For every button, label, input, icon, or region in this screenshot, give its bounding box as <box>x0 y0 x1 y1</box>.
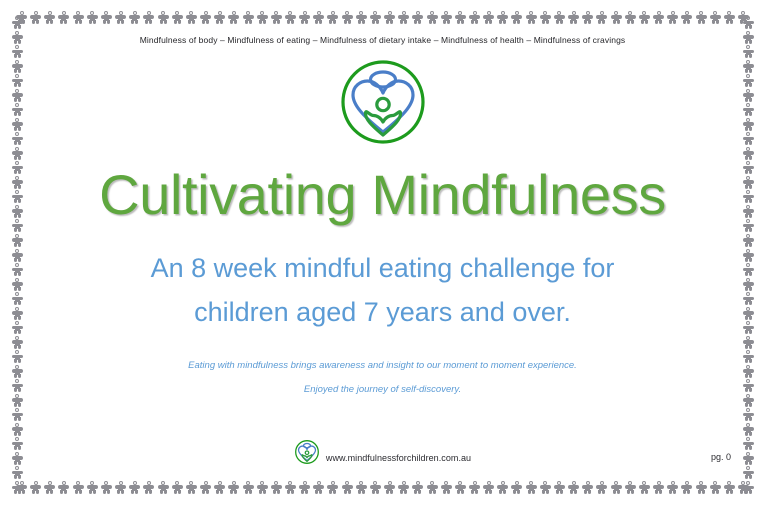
paper-doll-figure-icon <box>12 307 23 320</box>
paper-doll-figure-icon <box>743 307 754 320</box>
paper-doll-figure-icon <box>12 176 23 189</box>
paper-doll-figure-icon <box>12 292 23 305</box>
paper-doll-figure-icon <box>16 11 27 24</box>
decorative-border-left <box>9 16 25 494</box>
footer: www.mindfulnessforchildren.com.au pg. 0 <box>28 436 737 468</box>
paper-doll-figure-icon <box>743 60 754 73</box>
paper-doll-figure-icon <box>12 89 23 102</box>
paper-doll-figure-icon <box>743 118 754 131</box>
paper-doll-figure-icon <box>12 321 23 334</box>
tagline-line-1: Eating with mindfulness brings awareness… <box>28 354 737 377</box>
paper-doll-figure-icon <box>12 74 23 87</box>
paper-doll-figure-icon <box>12 249 23 262</box>
paper-doll-figure-icon <box>16 481 27 494</box>
paper-doll-figure-icon <box>12 452 23 465</box>
paper-doll-figure-icon <box>743 292 754 305</box>
paper-doll-figure-icon <box>743 278 754 291</box>
paper-doll-figure-icon <box>743 219 754 232</box>
paper-doll-figure-icon <box>743 89 754 102</box>
paper-doll-figure-icon <box>743 176 754 189</box>
paper-doll-figure-icon <box>743 45 754 58</box>
paper-doll-figure-icon <box>743 147 754 160</box>
paper-doll-figure-icon <box>12 423 23 436</box>
paper-doll-figure-icon <box>12 481 23 494</box>
paper-doll-figure-icon <box>743 234 754 247</box>
paper-doll-figure-icon <box>12 466 23 479</box>
paper-doll-figure-icon <box>743 16 754 29</box>
paper-doll-figure-icon <box>743 379 754 392</box>
paper-doll-figure-icon <box>738 11 749 24</box>
paper-doll-figure-icon <box>12 205 23 218</box>
paper-doll-figure-icon <box>12 132 23 145</box>
paper-doll-figure-icon <box>743 263 754 276</box>
page-number: pg. 0 <box>711 452 731 462</box>
subtitle-line-1: An 8 week mindful eating challenge for <box>28 247 737 291</box>
paper-doll-figure-icon <box>743 481 754 494</box>
paper-doll-figure-icon <box>12 350 23 363</box>
paper-doll-figure-icon <box>12 31 23 44</box>
paper-doll-figure-icon <box>743 249 754 262</box>
paper-doll-figure-icon <box>12 263 23 276</box>
paper-doll-figure-icon <box>12 219 23 232</box>
header-tagline: Mindfulness of body – Mindfulness of eat… <box>28 35 737 45</box>
paper-doll-figure-icon <box>743 437 754 450</box>
paper-doll-figure-icon <box>12 437 23 450</box>
subtitle-line-2: children aged 7 years and over. <box>28 291 737 335</box>
page-title: Cultivating Mindfulness <box>28 166 737 225</box>
subtitle: An 8 week mindful eating challenge for c… <box>28 247 737 334</box>
paper-doll-figure-icon <box>12 45 23 58</box>
paper-doll-figure-icon <box>12 118 23 131</box>
paper-doll-figure-icon <box>743 466 754 479</box>
logo-container <box>28 56 737 148</box>
poster-page: Mindfulness of body – Mindfulness of eat… <box>0 0 765 510</box>
paper-doll-figure-icon <box>743 190 754 203</box>
paper-doll-figure-icon <box>12 161 23 174</box>
poster-content: Mindfulness of body – Mindfulness of eat… <box>28 22 737 488</box>
mindfulness-for-children-logo-small <box>294 439 320 465</box>
paper-doll-figure-icon <box>743 365 754 378</box>
tagline: Eating with mindfulness brings awareness… <box>28 354 737 401</box>
paper-doll-figure-icon <box>12 147 23 160</box>
paper-doll-figure-icon <box>743 132 754 145</box>
paper-doll-figure-icon <box>743 74 754 87</box>
paper-doll-figure-icon <box>738 481 749 494</box>
footer-brand: www.mindfulnessforchildren.com.au <box>28 436 737 468</box>
paper-doll-figure-icon <box>743 336 754 349</box>
paper-doll-figure-icon <box>12 60 23 73</box>
website-url[interactable]: www.mindfulnessforchildren.com.au <box>326 441 471 463</box>
paper-doll-figure-icon <box>12 365 23 378</box>
paper-doll-figure-icon <box>12 16 23 29</box>
paper-doll-figure-icon <box>12 379 23 392</box>
decorative-border-right <box>740 16 756 494</box>
paper-doll-figure-icon <box>12 336 23 349</box>
mindfulness-for-children-logo <box>337 56 429 148</box>
paper-doll-figure-icon <box>12 234 23 247</box>
paper-doll-figure-icon <box>743 423 754 436</box>
paper-doll-figure-icon <box>743 394 754 407</box>
paper-doll-figure-icon <box>12 278 23 291</box>
paper-doll-figure-icon <box>12 103 23 116</box>
paper-doll-figure-icon <box>743 205 754 218</box>
paper-doll-figure-icon <box>743 350 754 363</box>
paper-doll-figure-icon <box>743 161 754 174</box>
paper-doll-figure-icon <box>743 31 754 44</box>
paper-doll-figure-icon <box>743 103 754 116</box>
paper-doll-figure-icon <box>743 452 754 465</box>
paper-doll-figure-icon <box>12 394 23 407</box>
tagline-line-2: Enjoyed the journey of self-discovery. <box>28 378 737 401</box>
paper-doll-figure-icon <box>12 190 23 203</box>
paper-doll-figure-icon <box>743 321 754 334</box>
paper-doll-figure-icon <box>12 408 23 421</box>
paper-doll-figure-icon <box>743 408 754 421</box>
